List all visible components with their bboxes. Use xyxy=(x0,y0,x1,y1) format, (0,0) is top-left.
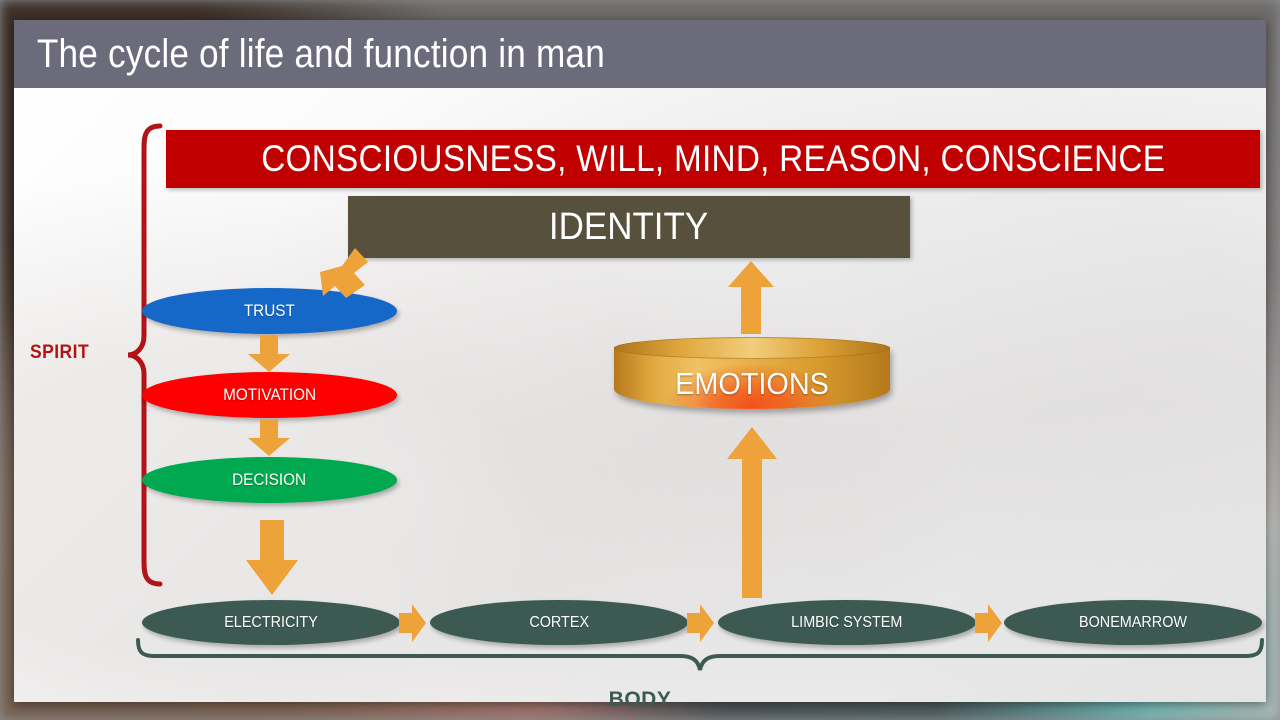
node-trust-label: TRUST xyxy=(244,301,295,321)
node-electricity-label: ELECTRICITY xyxy=(224,614,318,632)
identity-label: IDENTITY xyxy=(549,206,708,249)
slide-title-bar: The cycle of life and function in man xyxy=(14,20,1266,88)
arrow-emotions-to-identity-icon xyxy=(727,261,775,335)
arrow-cortex-to-limbic-icon xyxy=(685,603,715,643)
consciousness-banner-label: CONSCIOUSNESS, WILL, MIND, REASON, CONSC… xyxy=(261,138,1165,180)
arrow-motivation-to-decision-icon xyxy=(247,419,291,457)
body-label: BODY xyxy=(14,688,1266,712)
emotions-cylinder-top xyxy=(614,337,890,359)
node-limbic-system-label: LIMBIC SYSTEM xyxy=(791,614,902,632)
slide-canvas: CONSCIOUSNESS, WILL, MIND, REASON, CONSC… xyxy=(14,20,1266,702)
consciousness-banner: CONSCIOUSNESS, WILL, MIND, REASON, CONSC… xyxy=(166,130,1260,188)
body-brace xyxy=(136,638,1264,672)
arrow-trust-to-motivation-icon xyxy=(247,335,291,373)
node-cortex-label: CORTEX xyxy=(529,614,589,632)
identity-bar: IDENTITY xyxy=(348,196,910,258)
arrow-limbic-to-bonemarrow-icon xyxy=(973,603,1003,643)
arrow-decision-to-electricity-icon xyxy=(245,520,299,596)
node-decision[interactable]: DECISION xyxy=(142,457,397,503)
node-decision-label: DECISION xyxy=(233,470,307,490)
node-bonemarrow-label: BONEMARROW xyxy=(1079,614,1187,632)
page-title: The cycle of life and function in man xyxy=(14,32,605,77)
spirit-label: SPIRIT xyxy=(30,342,89,364)
node-motivation-label: MOTIVATION xyxy=(223,385,316,405)
spirit-brace xyxy=(126,124,166,586)
arrow-electricity-to-cortex-icon xyxy=(397,603,427,643)
emotions-label: EMOTIONS xyxy=(624,357,881,411)
node-motivation[interactable]: MOTIVATION xyxy=(142,372,397,418)
arrow-limbic-to-emotions-icon xyxy=(726,427,778,599)
arrow-identity-to-trust-icon xyxy=(310,246,370,302)
emotions-cylinder[interactable]: EMOTIONS xyxy=(614,337,890,417)
